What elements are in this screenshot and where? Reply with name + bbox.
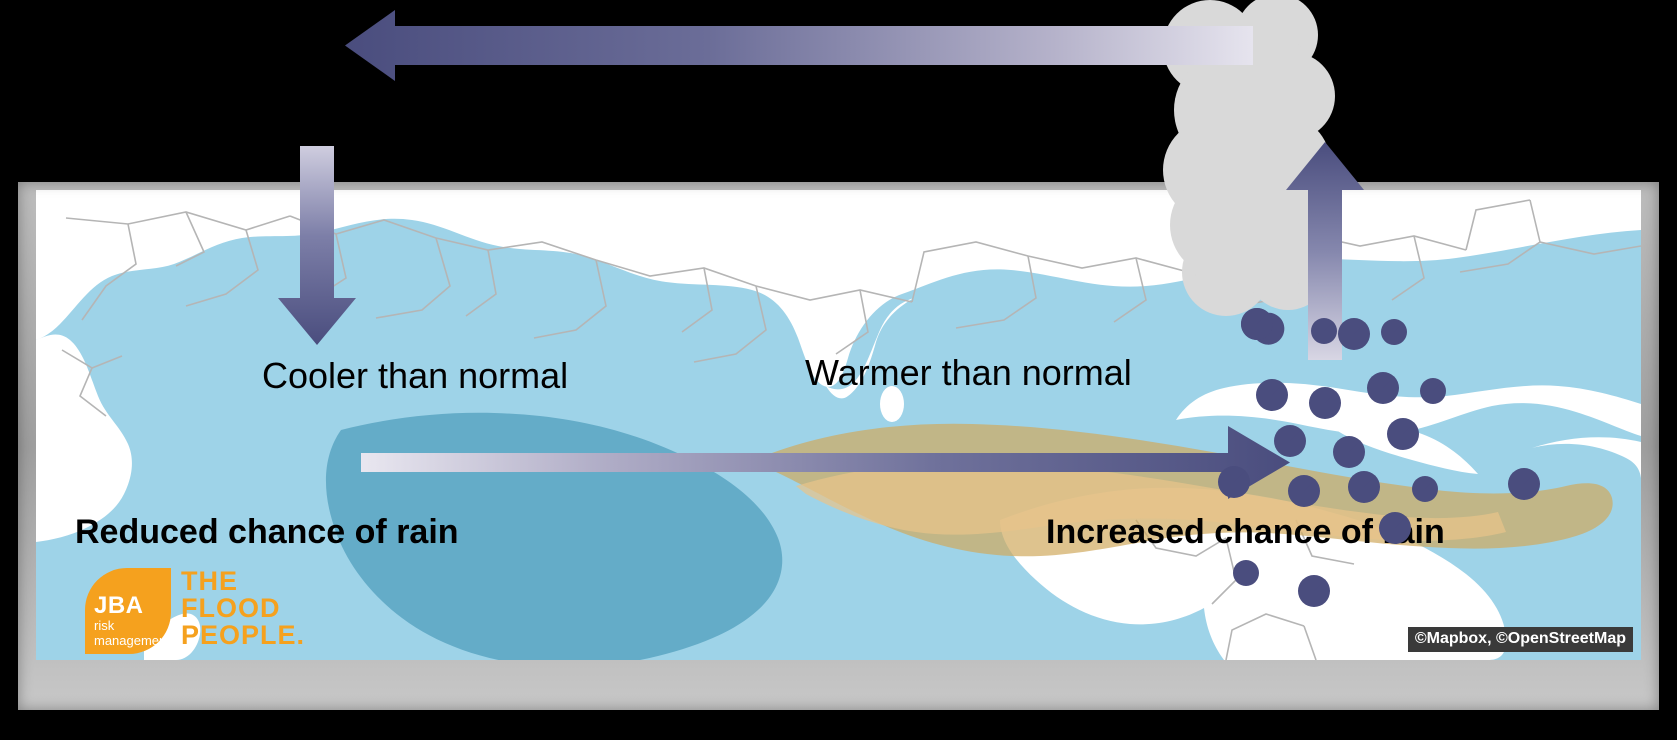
label-cooler-than-normal: Cooler than normal — [262, 355, 568, 397]
jba-logo-wordmark-line3: PEOPLE. — [181, 622, 305, 649]
jba-logo-wordmark: THE FLOOD PEOPLE. — [181, 568, 305, 649]
jba-logo-wordmark-line2: FLOOD — [181, 595, 305, 622]
jba-logo-badge-title: JBA — [94, 592, 144, 620]
label-warmer-than-normal: Warmer than normal — [805, 352, 1132, 394]
jba-logo-wordmark-line1: THE — [181, 568, 305, 595]
landmass-borneo — [1336, 425, 1478, 474]
arrow-left-icon — [345, 10, 1253, 81]
label-reduced-chance-of-rain: Reduced chance of rain — [75, 513, 459, 552]
jba-logo-badge-subtitle-line1: risk — [94, 618, 170, 633]
jba-logo-badge-subtitle-line2: management — [94, 633, 170, 648]
jba-logo-badge-subtitle: risk management — [94, 618, 170, 648]
jba-logo-badge: JBA risk management — [85, 568, 171, 654]
landmass-indonesia — [1176, 383, 1641, 436]
label-increased-chance-of-rain: Increased chance of rain — [1046, 513, 1445, 552]
landmass-png — [1532, 437, 1641, 478]
diagram-canvas: ©Mapbox, ©OpenStreetMap Cooler than norm… — [0, 0, 1677, 740]
jba-logo: JBA risk management THE FLOOD PEOPLE. — [85, 568, 340, 654]
landmass-horn-of-africa — [36, 335, 132, 542]
map-attribution: ©Mapbox, ©OpenStreetMap — [1408, 627, 1633, 652]
